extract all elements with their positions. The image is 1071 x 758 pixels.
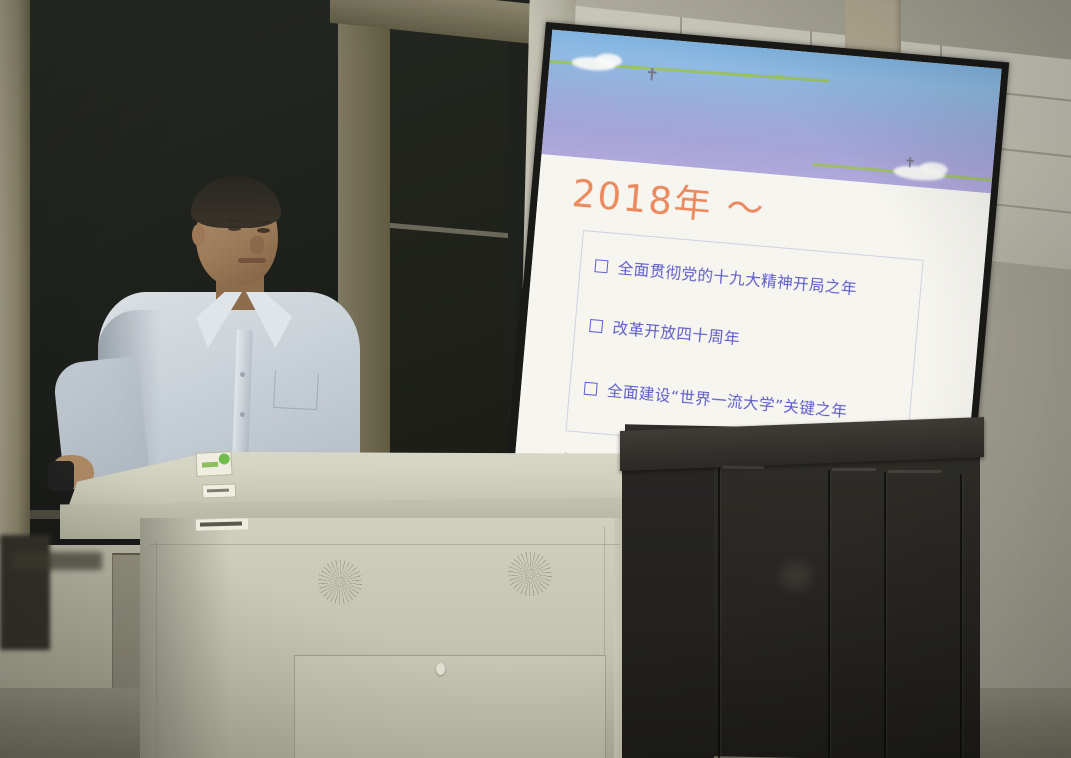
rack-panel-highlight (832, 468, 876, 471)
shirt-pocket (273, 371, 319, 410)
rack-panel-highlight (722, 466, 764, 469)
lectern-cabinet-door[interactable] (294, 655, 606, 758)
presenter-eye (257, 228, 270, 233)
rack-panel-divider (718, 468, 720, 758)
slide-bullet-text: 改革开放四十周年 (612, 316, 741, 349)
bird-icon: ✝ (644, 66, 660, 84)
shirt-button (240, 372, 245, 377)
presenter-mouth (238, 258, 266, 263)
presenter-eyebrow (226, 219, 242, 222)
lectern-cabinet-shadow (140, 518, 230, 758)
inventory-label-sticker (202, 483, 236, 498)
lectern-door-knob-icon[interactable] (436, 663, 445, 675)
slide-title: 2018年 ～ (570, 163, 768, 234)
presenter-ear (192, 224, 205, 246)
wall-stain (12, 552, 102, 570)
speaker-grille-icon (508, 552, 552, 596)
rack-reflection (780, 562, 812, 590)
brand-plate-sticker (196, 518, 248, 530)
presenter-eyebrow (256, 221, 272, 224)
speaker-grille-icon (318, 560, 362, 604)
bird-icon: ✝ (904, 155, 917, 170)
hollow-square-icon (584, 381, 598, 395)
rack-panel-divider (828, 470, 830, 758)
lecture-hall-photo: ✝ ✝ 2018年 ～ 全面贯彻党的十九大精神开局之年 改革开放四十周年 (0, 0, 1071, 758)
hollow-square-icon (589, 318, 603, 332)
hollow-square-icon (594, 259, 608, 273)
shirt-button (240, 412, 245, 417)
asset-tag-sticker (195, 451, 232, 477)
presenter-nose (250, 236, 264, 254)
rack-side-panel (622, 450, 714, 758)
slide-bullet-text: 全面贯彻党的十九大精神开局之年 (617, 256, 858, 299)
rack-panel-highlight (888, 470, 942, 473)
slide-bullet-text: 全面建设“世界一流大学”关键之年 (606, 379, 848, 422)
presentation-clicker[interactable] (48, 461, 74, 491)
rack-panel-divider (960, 474, 962, 758)
slide-bullet-item: 全面贯彻党的十九大精神开局之年 (594, 254, 858, 299)
lectern-seam (156, 540, 157, 758)
chalkboard-frame-left (0, 0, 30, 567)
rack-panel-divider (884, 472, 886, 758)
chalkboard-panel-right (388, 6, 508, 506)
presenter-eye (228, 226, 241, 231)
slide-bullet-item: 全面建设“世界一流大学”关键之年 (583, 377, 848, 422)
lectern-seam (150, 544, 620, 545)
slide-bullet-item: 改革开放四十周年 (589, 314, 741, 349)
